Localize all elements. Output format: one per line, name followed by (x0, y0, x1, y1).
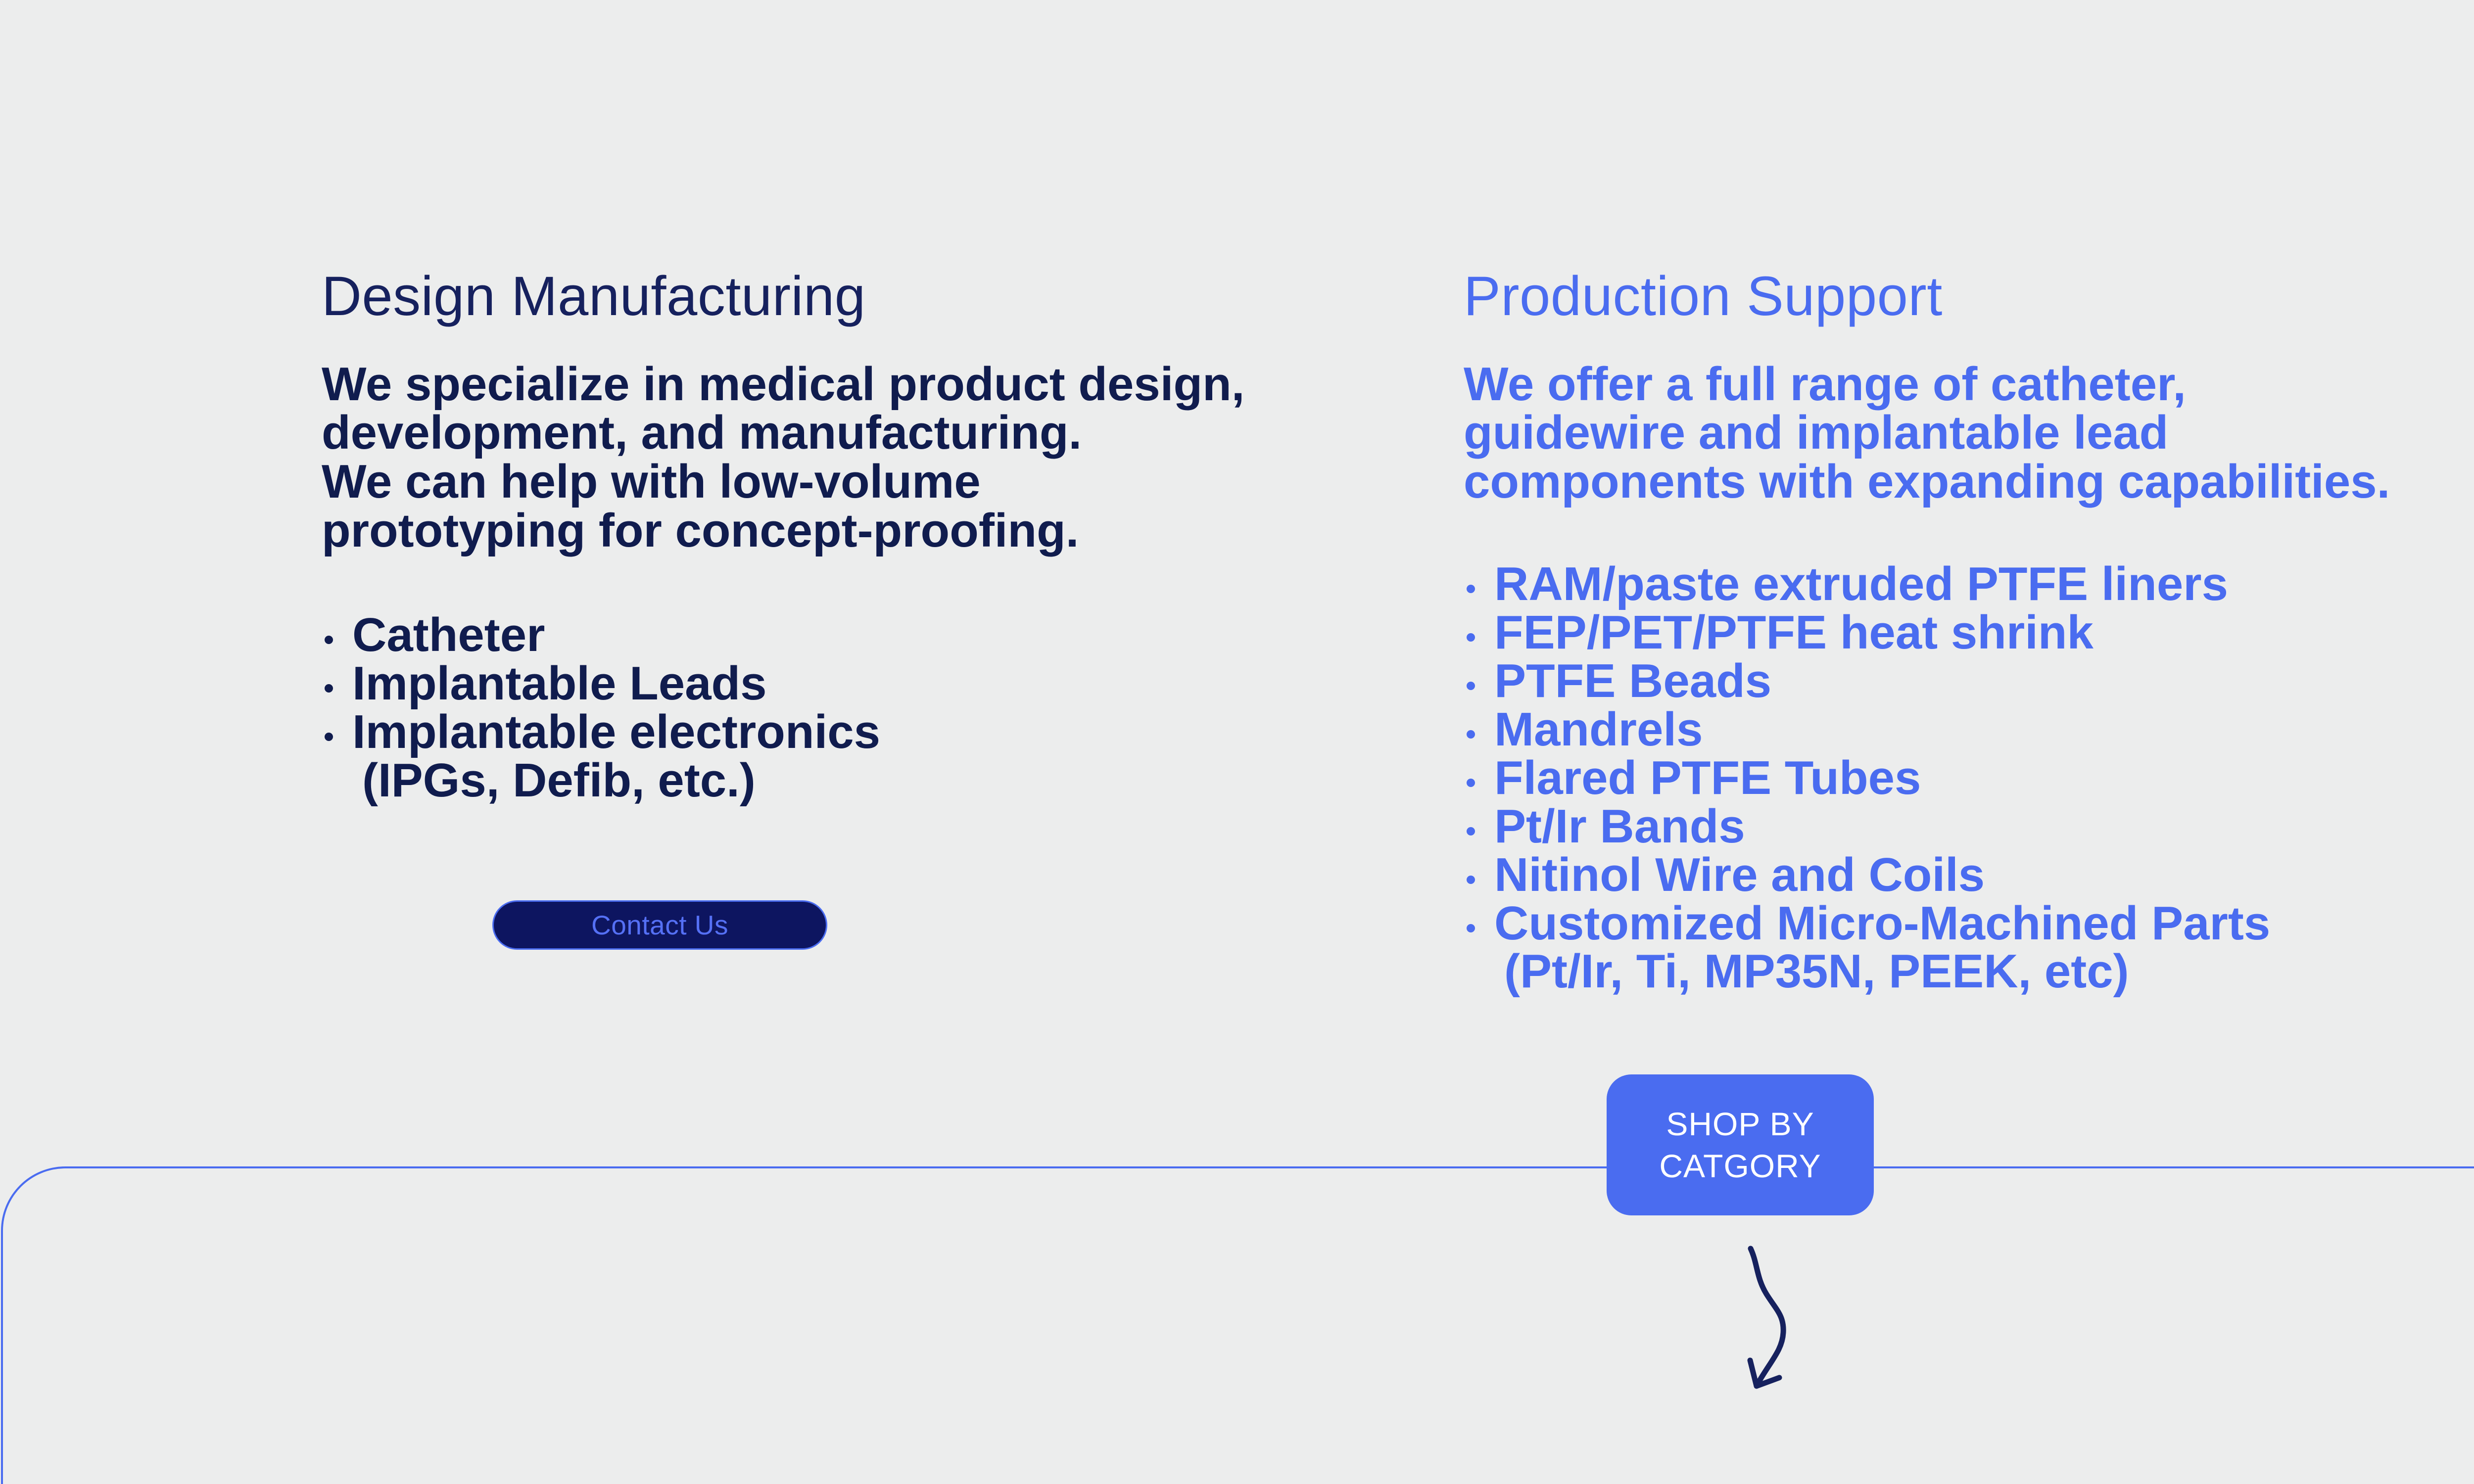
bullet-dot-icon (1467, 730, 1475, 739)
bullet-dot-icon (1467, 633, 1475, 642)
bullet-dot-icon (1467, 876, 1475, 884)
list-item-label: FEP/PET/PTFE heat shrink (1494, 606, 2093, 659)
production-support-column: Production Support We offer a full range… (1464, 267, 2453, 996)
list-item: Implantable electronics (IPGs, Defib, et… (322, 708, 1262, 805)
bullet-dot-icon (1467, 827, 1475, 835)
bullet-dot-icon (1467, 779, 1475, 787)
bullet-dot-icon (325, 684, 333, 693)
bullet-dot-icon (325, 636, 333, 644)
list-item-label: Flared PTFE Tubes (1494, 751, 1921, 804)
list-item-sublabel: (Pt/Ir, Ti, MP35N, PEEK, etc) (1494, 947, 2453, 996)
list-item-label: RAM/paste extruded PTFE liners (1494, 557, 2228, 610)
paragraph-line: We specialize in medical product design, (322, 360, 1262, 409)
paragraph-line: We offer a full range of catheter, (1464, 360, 2453, 409)
list-item: RAM/paste extruded PTFE liners (1464, 560, 2453, 608)
shop-by-category-button[interactable]: SHOP BY CATGORY (1607, 1074, 1874, 1215)
shop-button-line-1: SHOP BY (1666, 1103, 1814, 1145)
list-item-label: Mandrels (1494, 703, 1703, 756)
contact-us-button[interactable]: Contact Us (492, 900, 827, 950)
bullet-dot-icon (1467, 924, 1475, 932)
list-item-label: Nitinol Wire and Coils (1494, 848, 1985, 901)
list-item-label: Implantable electronics (352, 705, 880, 758)
list-item: Catheter (322, 611, 1262, 659)
design-manufacturing-bullet-list: Catheter Implantable Leads Implantable e… (322, 611, 1262, 805)
paragraph-line: components with expanding capabilities. (1464, 458, 2453, 507)
paragraph-line: development, and manufacturing. (322, 409, 1262, 458)
list-item-label: Catheter (352, 608, 545, 661)
list-item-sublabel: (IPGs, Defib, etc.) (352, 756, 1262, 805)
production-support-bullet-list: RAM/paste extruded PTFE liners FEP/PET/P… (1464, 560, 2453, 996)
bullet-dot-icon (1467, 585, 1475, 593)
list-item-label: PTFE Beads (1494, 654, 1771, 707)
list-item-label: Implantable Leads (352, 657, 767, 710)
production-support-paragraph: We offer a full range of catheter, guide… (1464, 360, 2453, 507)
paragraph-line: We can help with low-volume (322, 458, 1262, 507)
list-item-label: Pt/Ir Bands (1494, 800, 1745, 853)
paragraph-line: guidewire and implantable lead (1464, 409, 2453, 458)
list-item: Pt/Ir Bands (1464, 802, 2453, 851)
list-item: FEP/PET/PTFE heat shrink (1464, 608, 2453, 657)
design-manufacturing-paragraph: We specialize in medical product design,… (322, 360, 1262, 556)
list-item: Implantable Leads (322, 659, 1262, 708)
list-item: Nitinol Wire and Coils (1464, 851, 2453, 899)
bullet-dot-icon (1467, 682, 1475, 690)
list-item: Mandrels (1464, 705, 2453, 754)
list-item-label: Customized Micro-Machined Parts (1494, 897, 2270, 950)
list-item: Customized Micro-Machined Parts (Pt/Ir, … (1464, 899, 2453, 996)
production-support-heading: Production Support (1464, 267, 2453, 325)
design-manufacturing-heading: Design Manufacturing (322, 267, 1262, 325)
list-item: Flared PTFE Tubes (1464, 754, 2453, 802)
design-manufacturing-column: Design Manufacturing We specialize in me… (322, 267, 1262, 805)
paragraph-line: prototyping for concept-proofing. (322, 507, 1262, 556)
list-item: PTFE Beads (1464, 657, 2453, 705)
bullet-dot-icon (325, 733, 333, 741)
rounded-top-panel-border (1, 1166, 2474, 1484)
shop-button-line-2: CATGORY (1659, 1145, 1821, 1187)
